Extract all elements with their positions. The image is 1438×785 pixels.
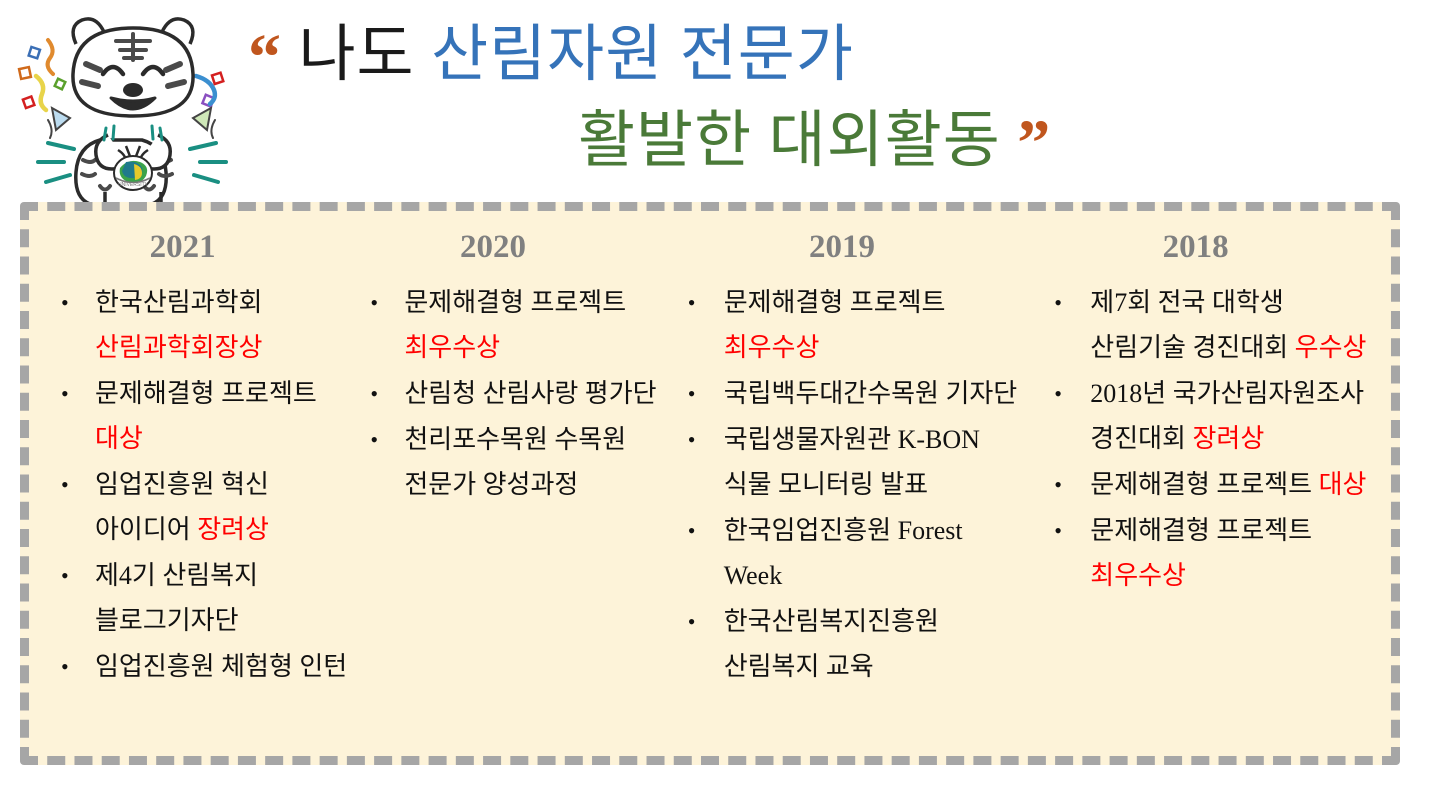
activities-panel: 2021한국산림과학회 산림과학회장상문제해결형 프로젝트 대상임업진흥원 혁신… — [20, 202, 1400, 765]
list-item: 임업진흥원 혁신 아이디어 장려상 — [43, 462, 348, 552]
year-columns-container: 2021한국산림과학회 산림과학회장상문제해결형 프로젝트 대상임업진흥원 혁신… — [29, 211, 1391, 756]
activity-list: 제7회 전국 대학생 산림기술 경진대회 우수상2018년 국가산림자원조사 경… — [1036, 280, 1385, 598]
activity-text: 제4기 산림복지 블로그기자단 — [95, 561, 258, 635]
title-line-1: “ 나도 산림자원 전문가 — [248, 20, 854, 93]
award-badge: 장려상 — [1192, 424, 1264, 453]
list-item: 2018년 국가산림자원조사 경진대회 장려상 — [1036, 371, 1385, 461]
title-line-2: 활발한 대외활동 ” — [578, 106, 1051, 179]
activity-text: 국립생물자원관 K-BON 식물 모니터링 발표 — [724, 425, 980, 499]
award-badge: 장려상 — [197, 515, 269, 544]
activity-text: 한국산림복지진흥원 산림복지 교육 — [724, 607, 939, 681]
list-item: 국립백두대간수목원 기자단 — [670, 371, 1025, 416]
award-badge: 대상 — [95, 424, 143, 453]
svg-text:UNIVERSITY: UNIVERSITY — [118, 182, 149, 188]
year-heading: 2021 — [43, 229, 348, 266]
activity-list: 한국산림과학회 산림과학회장상문제해결형 프로젝트 대상임업진흥원 혁신 아이디… — [43, 280, 348, 689]
page-title: “ 나도 산림자원 전문가 활발한 대외활동 ” — [248, 8, 1408, 198]
activity-text: 산림청 산림사랑 평가단 — [404, 379, 656, 408]
list-item: 임업진흥원 체험형 인턴 — [43, 644, 348, 689]
activity-text: 문제해결형 프로젝트 — [95, 379, 317, 408]
white-tiger-mascot: UNIVERSITY — [8, 10, 258, 205]
activity-text: 문제해결형 프로젝트 — [1090, 470, 1318, 499]
open-quote-mark: “ — [248, 21, 282, 94]
year-column-2019: 2019문제해결형 프로젝트 최우수상국립백두대간수목원 기자단국립생물자원관 … — [660, 229, 1025, 690]
activity-list: 문제해결형 프로젝트 최우수상국립백두대간수목원 기자단국립생물자원관 K-BO… — [670, 280, 1025, 689]
title-subtitle-text: 활발한 대외활동 — [578, 107, 1001, 175]
activity-text: 천리포수목원 수목원 전문가 양성과정 — [404, 425, 626, 499]
activity-text: 임업진흥원 체험형 인턴 — [95, 652, 347, 681]
list-item: 문제해결형 프로젝트 최우수상 — [352, 280, 659, 370]
year-heading: 2018 — [1036, 229, 1385, 266]
award-badge: 최우수상 — [724, 333, 820, 362]
year-column-2021: 2021한국산림과학회 산림과학회장상문제해결형 프로젝트 대상임업진흥원 혁신… — [35, 229, 348, 690]
list-item: 문제해결형 프로젝트 대상 — [1036, 462, 1385, 507]
list-item: 한국임업진흥원 Forest Week — [670, 508, 1025, 598]
year-column-2018: 2018제7회 전국 대학생 산림기술 경진대회 우수상2018년 국가산림자원… — [1024, 229, 1385, 599]
year-column-2020: 2020문제해결형 프로젝트 최우수상산림청 산림사랑 평가단천리포수목원 수목… — [348, 229, 659, 508]
activity-text: 문제해결형 프로젝트 — [404, 288, 626, 317]
list-item: 한국산림과학회 산림과학회장상 — [43, 280, 348, 370]
year-heading: 2020 — [352, 229, 659, 266]
award-badge: 최우수상 — [1090, 561, 1186, 590]
list-item: 문제해결형 프로젝트 최우수상 — [1036, 508, 1385, 598]
list-item: 제7회 전국 대학생 산림기술 경진대회 우수상 — [1036, 280, 1385, 370]
list-item: 국립생물자원관 K-BON 식물 모니터링 발표 — [670, 417, 1025, 507]
activity-list: 문제해결형 프로젝트 최우수상산림청 산림사랑 평가단천리포수목원 수목원 전문… — [352, 280, 659, 507]
list-item: 산림청 산림사랑 평가단 — [352, 371, 659, 416]
close-quote-mark: ” — [1017, 107, 1051, 180]
header-banner: UNIVERSITY — [0, 0, 1438, 200]
activity-text: 문제해결형 프로젝트 — [724, 288, 946, 317]
activity-text: 한국산림과학회 — [95, 288, 262, 317]
award-badge: 우수상 — [1295, 333, 1367, 362]
list-item: 문제해결형 프로젝트 최우수상 — [670, 280, 1025, 370]
activity-text: 제7회 전국 대학생 산림기술 경진대회 — [1090, 288, 1294, 362]
award-badge: 최우수상 — [404, 333, 500, 362]
list-item: 제4기 산림복지 블로그기자단 — [43, 553, 348, 643]
activity-text: 한국임업진흥원 Forest Week — [724, 516, 963, 590]
list-item: 문제해결형 프로젝트 대상 — [43, 371, 348, 461]
activity-text: 문제해결형 프로젝트 — [1090, 516, 1312, 545]
title-plain-text: 나도 — [299, 21, 415, 89]
list-item: 한국산림복지진흥원 산림복지 교육 — [670, 599, 1025, 689]
activity-text: 국립백두대간수목원 기자단 — [724, 379, 1018, 408]
list-item: 천리포수목원 수목원 전문가 양성과정 — [352, 417, 659, 507]
award-badge: 대상 — [1319, 470, 1367, 499]
year-heading: 2019 — [670, 229, 1025, 266]
award-badge: 산림과학회장상 — [95, 333, 262, 362]
title-accent-text: 산림자원 전문가 — [431, 21, 854, 89]
